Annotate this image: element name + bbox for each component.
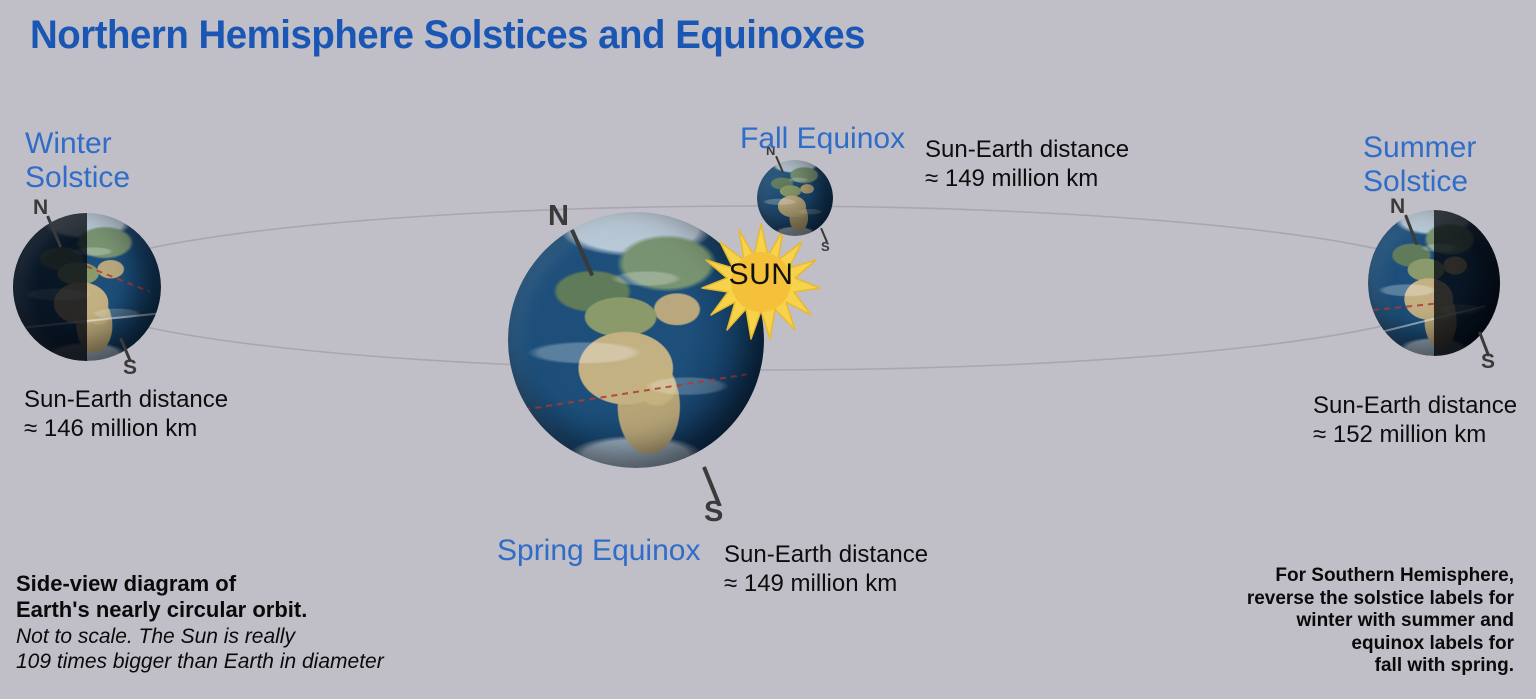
note-left: Side-view diagram of Earth's nearly circ… bbox=[16, 571, 446, 674]
note-left-bold: Side-view diagram of Earth's nearly circ… bbox=[16, 571, 446, 623]
label-winter-solstice: Winter Solstice bbox=[25, 127, 130, 195]
distance-spring-equinox: Sun-Earth distance ≈ 149 million km bbox=[724, 540, 928, 598]
earth-texture bbox=[757, 160, 833, 236]
label-fall-equinox: Fall Equinox bbox=[740, 122, 905, 156]
earth-summer-solstice bbox=[1368, 210, 1500, 356]
label-spring-equinox: Spring Equinox bbox=[497, 534, 700, 568]
earth-globe bbox=[757, 160, 833, 236]
diagram-canvas: Northern Hemisphere Solstices and Equino… bbox=[0, 0, 1536, 699]
sun-label: SUN bbox=[700, 258, 822, 292]
earth-night-side bbox=[13, 213, 87, 361]
earth-globe bbox=[13, 213, 161, 361]
sun: SUN bbox=[700, 222, 822, 342]
note-left-italic: Not to scale. The Sun is really 109 time… bbox=[16, 624, 446, 674]
earth-night-side bbox=[1434, 210, 1500, 356]
label-summer-solstice: Summer Solstice bbox=[1363, 131, 1476, 199]
earth-winter-solstice bbox=[13, 213, 161, 361]
earth-globe bbox=[1368, 210, 1500, 356]
distance-summer-solstice: Sun-Earth distance ≈ 152 million km bbox=[1313, 391, 1517, 449]
earth-fall-equinox bbox=[757, 160, 833, 236]
distance-fall-equinox: Sun-Earth distance ≈ 149 million km bbox=[925, 135, 1129, 193]
distance-winter-solstice: Sun-Earth distance ≈ 146 million km bbox=[24, 385, 228, 443]
note-southern-hemisphere: For Southern Hemisphere, reverse the sol… bbox=[1114, 565, 1514, 678]
